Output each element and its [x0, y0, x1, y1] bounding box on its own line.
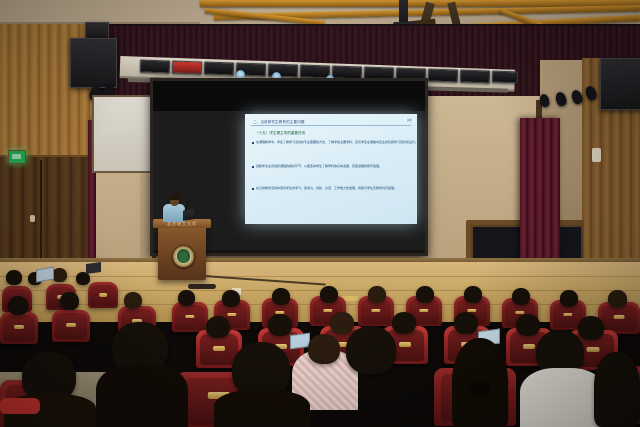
projected-slide: 二、当前研究生教育的主要问题 提纲 （十五）学生需主导的重要任务 在课程教学中，…	[245, 114, 417, 224]
line-array-speaker-right	[600, 58, 640, 110]
floor-plank-line-1	[0, 276, 640, 277]
audience-headband	[0, 398, 40, 414]
slide-bullet-3: 在日常教学活动中培养学生的学习、思考力、创新、交流、工作能力的发展，积极与学生及…	[256, 186, 397, 191]
audience-laptop	[86, 262, 101, 274]
screen-top-band	[153, 81, 425, 111]
slide-divider	[251, 125, 411, 126]
slide-bullet-marker-3	[252, 188, 254, 190]
wall-light-switch[interactable]	[592, 148, 601, 162]
stage-light-11	[460, 69, 490, 83]
audience-head	[464, 286, 482, 303]
slide-corner-tag: 提纲	[406, 118, 413, 122]
audience-head	[416, 286, 434, 303]
table-row[interactable]	[0, 312, 38, 344]
emblem-center-graphic	[177, 249, 190, 263]
emergency-exit-sign	[8, 150, 26, 164]
audience-shoulders-front	[214, 390, 310, 427]
slide-bullet-1: 在课程教学中，学生了解学习活动的专业需要和方法，了解学校主要学科，完善学生在课堂…	[256, 140, 417, 145]
audience-head	[516, 314, 540, 336]
stage-light-12	[492, 71, 518, 84]
presenter-hair	[169, 194, 180, 200]
table-row[interactable]	[172, 302, 208, 332]
audience-head	[608, 290, 627, 308]
slide-subtitle: （十五）学生需主导的重要任务	[255, 131, 305, 136]
audience-head	[578, 316, 604, 340]
university-seal-emblem	[172, 245, 195, 268]
slide-bullet-2: 鼓励学生在实验和课程的相关环节，以更多的学生了解学科的基本发展、实践进展和教育发…	[256, 164, 382, 169]
presenter-torso	[163, 204, 185, 222]
line-array-speaker-left	[70, 38, 117, 88]
screen-dark-area-bottom	[245, 224, 417, 250]
auditorium-photo: 二、当前研究生教育的主要问题 提纲 （十五）学生需主导的重要任务 在课程教学中，…	[0, 0, 640, 427]
audience-head	[268, 314, 292, 336]
audience-head	[320, 286, 338, 303]
stage-light-1	[140, 59, 170, 73]
table-row[interactable]	[88, 282, 118, 308]
slide-title: 二、当前研究生教育的主要问题	[253, 119, 305, 124]
audience-head	[454, 312, 478, 334]
table-row[interactable]	[52, 310, 90, 342]
audience-laptop	[290, 333, 310, 349]
secondary-projection-screen-left	[92, 95, 158, 173]
audience-head	[308, 334, 340, 364]
audience-head	[392, 312, 416, 334]
screen-dark-area-right	[417, 111, 425, 250]
audience-head	[272, 288, 290, 305]
audience-head	[60, 292, 79, 310]
audience-head	[6, 270, 22, 285]
audience-head	[368, 286, 386, 303]
door-handle[interactable]	[30, 215, 35, 222]
audience-head	[222, 290, 240, 307]
stage-light-2-red	[172, 60, 202, 74]
slide-bullet-marker-1	[252, 142, 254, 144]
cable-coil	[188, 284, 216, 289]
audience-head	[560, 290, 578, 307]
audience-head	[206, 316, 230, 338]
audience-head-front	[346, 326, 396, 374]
audience-head	[76, 272, 90, 285]
audience-head	[178, 290, 195, 306]
audience-head	[8, 296, 28, 315]
audience-head	[124, 292, 142, 309]
slide-bullet-marker-2	[252, 166, 254, 168]
audience-head	[330, 312, 354, 334]
stage-light-10	[428, 68, 458, 82]
audience-hair-tie	[468, 380, 490, 398]
audience-shoulders-front	[96, 364, 188, 427]
stage-light-3	[204, 61, 234, 75]
audience-head	[512, 288, 530, 305]
audience-head	[52, 268, 67, 282]
audience-head-front	[594, 352, 640, 427]
